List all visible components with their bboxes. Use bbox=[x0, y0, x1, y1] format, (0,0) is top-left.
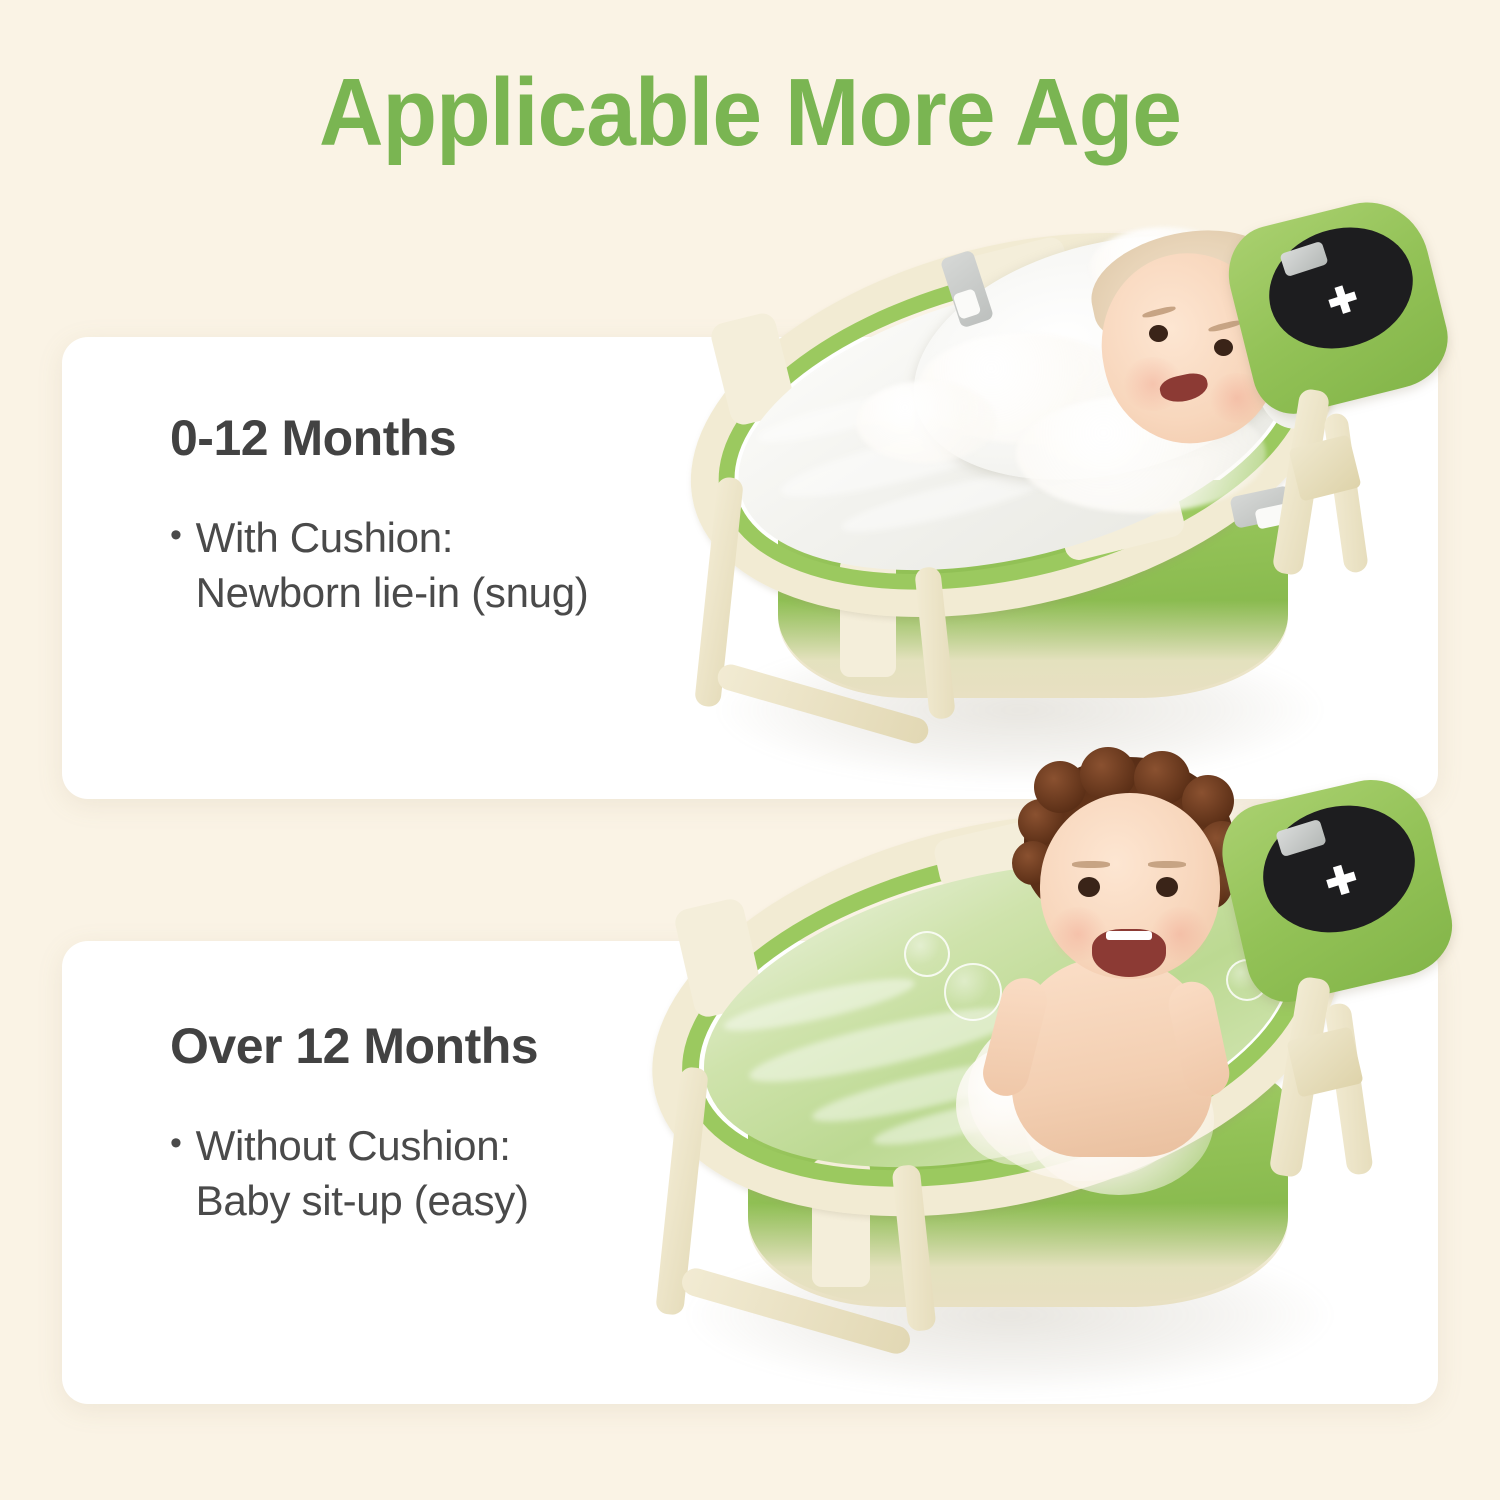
bullet-marker-icon: • bbox=[170, 1119, 182, 1168]
bullet-line-2: Newborn lie-in (snug) bbox=[196, 566, 589, 621]
card-text-block: 0-12 Months • With Cushion: Newborn lie-… bbox=[170, 409, 588, 620]
age-heading: 0-12 Months bbox=[170, 409, 588, 467]
soap-bubble bbox=[904, 931, 950, 977]
bathtub-illustration: ✚ bbox=[660, 205, 1460, 825]
bullet-text: Without Cushion: Baby sit-up (easy) bbox=[196, 1119, 529, 1228]
age-heading: Over 12 Months bbox=[170, 1017, 538, 1075]
baby-eye bbox=[1149, 325, 1168, 342]
baby-eye bbox=[1078, 877, 1100, 897]
bathtub-illustration: ✚ bbox=[620, 745, 1480, 1425]
bullet-line-1: With Cushion: bbox=[196, 511, 589, 566]
soap-bubble bbox=[944, 963, 1002, 1021]
product-photo-toddler-without-cushion: ✚ bbox=[620, 745, 1480, 1425]
bullet-line-2: Baby sit-up (easy) bbox=[196, 1174, 529, 1229]
product-photo-newborn-with-cushion: ✚ bbox=[660, 205, 1460, 825]
baby-eye bbox=[1214, 339, 1233, 356]
card-text-block: Over 12 Months • Without Cushion: Baby s… bbox=[170, 1017, 538, 1228]
bullet-row: • Without Cushion: Baby sit-up (easy) bbox=[170, 1119, 538, 1228]
hair-curl bbox=[1034, 761, 1086, 813]
bullet-marker-icon: • bbox=[170, 511, 182, 560]
page-title: Applicable More Age bbox=[53, 58, 1448, 168]
baby-eyebrow bbox=[1148, 861, 1186, 868]
baby-tooth bbox=[1106, 931, 1152, 940]
baby-eye bbox=[1156, 877, 1178, 897]
soap-foam bbox=[856, 381, 996, 463]
bullet-line-1: Without Cushion: bbox=[196, 1119, 529, 1174]
baby-eyebrow bbox=[1072, 861, 1110, 868]
bullet-text: With Cushion: Newborn lie-in (snug) bbox=[196, 511, 589, 620]
bullet-row: • With Cushion: Newborn lie-in (snug) bbox=[170, 511, 588, 620]
